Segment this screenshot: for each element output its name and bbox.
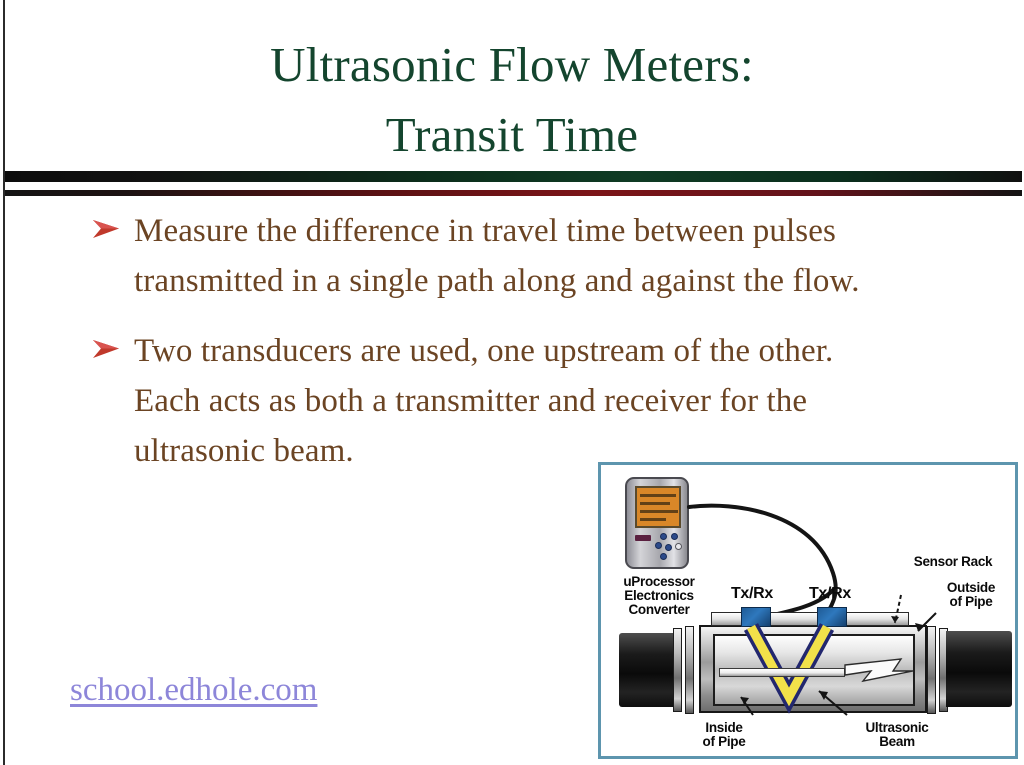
device-screen	[635, 486, 681, 528]
device-button[interactable]	[671, 533, 678, 540]
slide-title: Ultrasonic Flow Meters: Transit Time	[0, 30, 1024, 169]
pipe-flange	[673, 628, 682, 712]
list-item-text: Two transducers are used, one upstream o…	[134, 326, 902, 476]
device-button[interactable]	[675, 543, 682, 550]
source-link[interactable]: school.edhole.com	[70, 672, 317, 709]
uprocessor-device	[625, 477, 689, 569]
device-indicator-bar	[635, 535, 651, 541]
pipe-flange	[685, 626, 694, 714]
transducer-tx-rx-right	[817, 607, 847, 627]
slide-ultrasonic-flow-meters-transit-time: Ultrasonic Flow Meters: Transit Time Mea…	[0, 0, 1024, 765]
transducer-tx-rx-left	[741, 607, 771, 627]
arrowhead-bullet-icon	[92, 338, 122, 360]
slide-top-edge	[0, 0, 1024, 2]
device-button[interactable]	[665, 544, 672, 551]
label-uprocessor: uProcessor Electronics Converter	[611, 575, 707, 617]
title-line-1: Ultrasonic Flow Meters:	[0, 30, 1024, 100]
divider-gap	[5, 182, 1022, 190]
flow-direction-rod	[719, 668, 845, 677]
label-ultrasonic-beam: Ultrasonic Beam	[847, 721, 947, 749]
list-item: Two transducers are used, one upstream o…	[92, 326, 902, 476]
device-button[interactable]	[660, 533, 667, 540]
divider-bar-underline	[5, 196, 1022, 199]
pipe-flange	[927, 626, 936, 714]
label-outside-of-pipe: Outside of Pipe	[931, 581, 1011, 609]
label-inside-of-pipe: Inside of Pipe	[685, 721, 763, 749]
title-line-2: Transit Time	[0, 100, 1024, 170]
label-sensor-rack: Sensor Rack	[897, 555, 1009, 569]
label-tx-rx-left: Tx/Rx	[721, 587, 783, 601]
list-item-text: Measure the difference in travel time be…	[134, 206, 902, 306]
arrowhead-bullet-icon	[92, 218, 122, 240]
pipe-left-section	[619, 633, 681, 707]
pipe-right-section	[946, 631, 1012, 707]
list-item: Measure the difference in travel time be…	[92, 206, 902, 306]
ultrasonic-flow-meter-diagram: uProcessor Electronics Converter Tx/Rx T…	[598, 462, 1018, 759]
device-button[interactable]	[660, 553, 667, 560]
device-button[interactable]	[655, 542, 662, 549]
divider-bar-green	[5, 171, 1022, 182]
bullet-list: Measure the difference in travel time be…	[92, 206, 902, 496]
label-tx-rx-right: Tx/Rx	[799, 587, 861, 601]
